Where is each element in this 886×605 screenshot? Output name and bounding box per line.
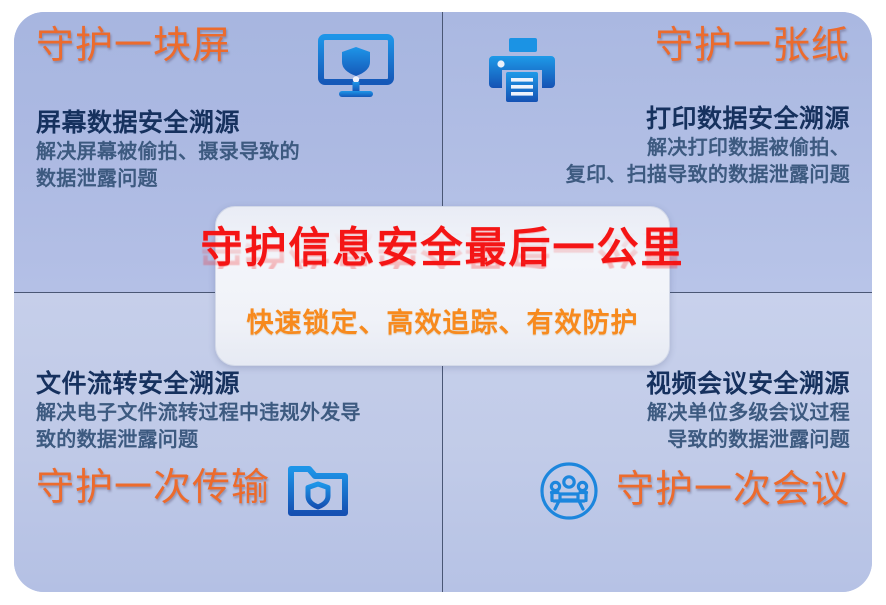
quadrant-screen-body: 解决屏幕被偷拍、摄录导致的 数据泄露问题 — [36, 139, 420, 193]
folder-shield-icon — [286, 460, 350, 518]
center-callout-subtitle: 快速锁定、高效追踪、有效防护 — [247, 301, 639, 340]
center-callout-title-text: 守护信息安全最后一公里 — [201, 224, 685, 271]
monitor-shield-icon — [318, 34, 394, 100]
quadrant-file-body-line-1: 解决电子文件流转过程中违规外发导 — [36, 400, 420, 427]
quadrant-screen-body-line-1: 解决屏幕被偷拍、摄录导致的 — [36, 139, 420, 166]
quadrant-print-headline: 守护一张纸 — [655, 26, 850, 68]
quadrant-screen-title: 屏幕数据安全溯源 — [36, 108, 420, 139]
center-callout[interactable]: 守护信息安全最后一公里 守护信息安全最后一公里 快速锁定、高效追踪、有效防护 — [215, 206, 670, 366]
spacer — [36, 100, 420, 108]
quadrant-print-body-line-2: 复印、扫描导致的数据泄露问题 — [465, 162, 850, 189]
quadrant-meeting-title: 视频会议安全溯源 — [465, 369, 850, 400]
quadrant-meeting-headline: 守护一次会议 — [616, 470, 850, 512]
quadrant-print-title: 打印数据安全溯源 — [465, 104, 850, 135]
quadrant-meeting-footer: 守护一次会议 — [465, 460, 850, 522]
quadrant-meeting-body-line-2: 导致的数据泄露问题 — [465, 427, 850, 454]
quadrant-print-body-line-1: 解决打印数据被偷拍、 — [465, 135, 850, 162]
quadrant-print-body: 解决打印数据被偷拍、 复印、扫描导致的数据泄露问题 — [465, 135, 850, 189]
quadrant-file-body-line-2: 致的数据泄露问题 — [36, 427, 420, 454]
printer-icon — [487, 36, 557, 104]
quadrant-file-body: 解决电子文件流转过程中违规外发导 致的数据泄露问题 — [36, 400, 420, 454]
video-conference-icon — [538, 460, 600, 522]
quadrant-file-headline: 守护一次传输 — [36, 468, 270, 510]
center-callout-title: 守护信息安全最后一公里 守护信息安全最后一公里 — [201, 227, 685, 269]
quadrant-meeting-body-line-1: 解决单位多级会议过程 — [465, 400, 850, 427]
infographic-canvas: 守护一块屏 — [0, 0, 886, 605]
quadrant-meeting-body: 解决单位多级会议过程 导致的数据泄露问题 — [465, 400, 850, 454]
quadrant-file-footer: 守护一次传输 — [36, 460, 420, 518]
quadrant-print-header: 守护一张纸 — [465, 26, 850, 104]
quadrant-screen-headline: 守护一块屏 — [36, 26, 231, 68]
quadrant-file-title: 文件流转安全溯源 — [36, 369, 420, 400]
quadrant-screen-header: 守护一块屏 — [36, 26, 420, 100]
quadrant-screen-body-line-2: 数据泄露问题 — [36, 166, 420, 193]
